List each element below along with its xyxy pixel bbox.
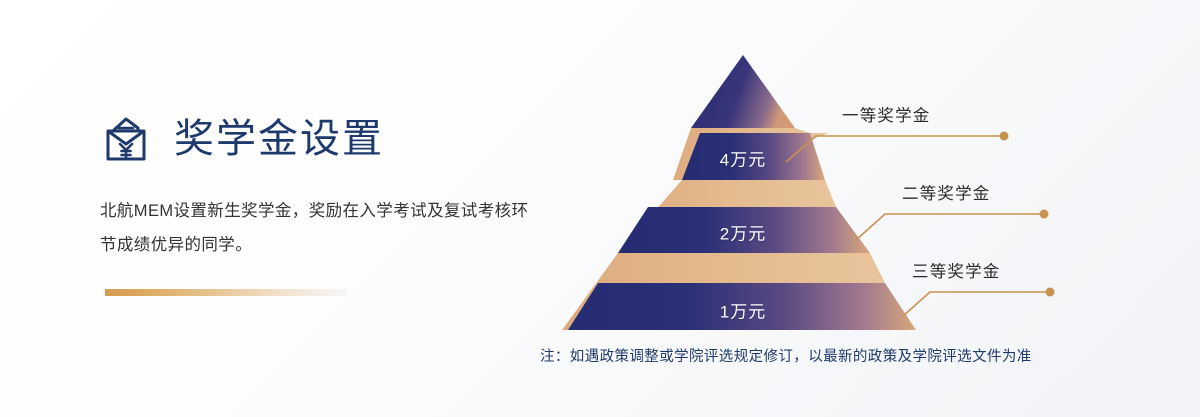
connector-dot-second-class — [1040, 210, 1049, 219]
gold-divider-rule — [105, 289, 347, 296]
connector-line-second-class — [856, 214, 1040, 240]
scholarship-banner: 奖学金设置 北航MEM设置新生奖学金，奖励在入学考试及复试考核环节成绩优异的同学… — [0, 0, 1200, 417]
footnote-text: 注：如遇政策调整或学院评选规定修订，以最新的政策及学院评选文件为准 — [540, 345, 1140, 366]
connector-line-first-class — [786, 136, 1000, 162]
connector-dot-first-class — [1000, 132, 1009, 141]
tier-value-second-class: 2万元 — [720, 220, 766, 245]
intro-description: 北航MEM设置新生奖学金，奖励在入学考试及复试考核环节成绩优异的同学。 — [100, 194, 530, 262]
pyramid-graphic — [540, 40, 1100, 350]
envelope-yen-icon — [100, 114, 152, 164]
pyramid-apex — [691, 55, 795, 128]
scholarship-pyramid: 4万元 2万元 1万元 一等奖学金 二等奖学金 三等奖学金 — [540, 40, 1100, 350]
connector-line-third-class — [902, 292, 1046, 317]
intro-block: 奖学金设置 北航MEM设置新生奖学金，奖励在入学考试及复试考核环节成绩优异的同学… — [100, 108, 570, 262]
tier-label-second-class: 二等奖学金 — [902, 180, 991, 204]
tier-label-first-class: 一等奖学金 — [842, 102, 931, 126]
tier-label-third-class: 三等奖学金 — [912, 258, 1001, 282]
tier-value-third-class: 1万元 — [720, 298, 766, 323]
tier-value-first-class: 4万元 — [720, 146, 766, 171]
page-title: 奖学金设置 — [174, 119, 384, 159]
connector-dot-third-class — [1046, 288, 1055, 297]
title-row: 奖学金设置 — [100, 108, 570, 170]
